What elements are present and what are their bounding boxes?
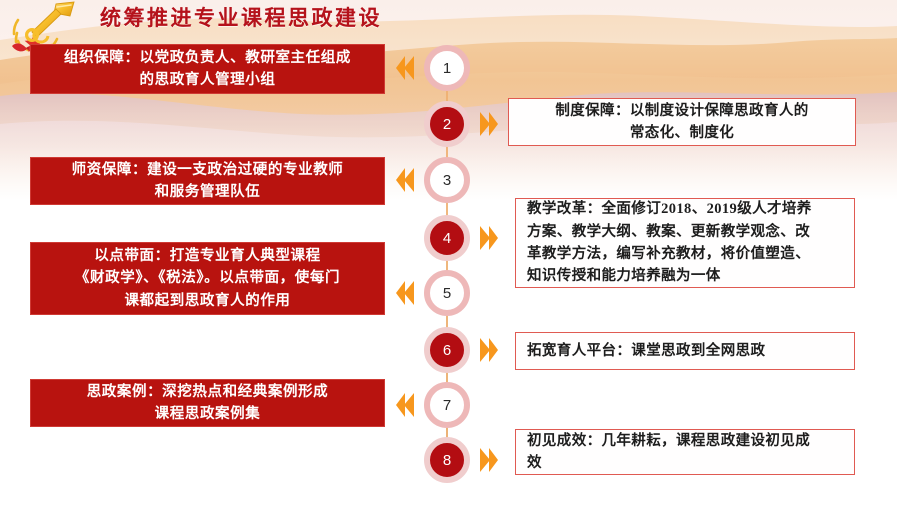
left-callout-text: 组织保障：以党政负责人、教研室主任组成 的思政育人管理小组	[41, 47, 374, 92]
chevron-right-icon	[476, 111, 498, 137]
left-callout-3[interactable]: 师资保障：建设一支政治过硬的专业教师 和服务管理队伍	[30, 157, 385, 205]
node-number: 3	[443, 173, 451, 188]
right-callout-2[interactable]: 制度保障：以制度设计保障思政育人的 常态化、制度化	[508, 98, 856, 146]
left-callout-1[interactable]: 组织保障：以党政负责人、教研室主任组成 的思政育人管理小组	[30, 44, 385, 94]
chevron-right-icon	[476, 225, 498, 251]
left-callout-7[interactable]: 思政案例：深挖热点和经典案例形成 课程思政案例集	[30, 379, 385, 427]
node-number: 1	[443, 61, 451, 76]
timeline-node-2[interactable]: 2	[424, 101, 470, 147]
slide-canvas: 统筹推进专业课程思政建设 12345678 组织保障：以党政负责人、教研室主任组…	[0, 0, 897, 516]
chevron-left-icon	[396, 55, 418, 81]
timeline-node-6[interactable]: 6	[424, 327, 470, 373]
left-callout-5[interactable]: 以点带面：打造专业育人典型课程 《财政学》、《税法》。以点带面，使每门 课都起到…	[30, 242, 385, 315]
node-number: 2	[443, 117, 451, 132]
right-callout-text: 初见成效：几年耕耘，课程思政建设初见成 效	[527, 430, 843, 475]
node-number: 8	[443, 453, 451, 468]
left-callout-text: 思政案例：深挖热点和经典案例形成 课程思政案例集	[41, 381, 374, 426]
right-callout-text: 制度保障：以制度设计保障思政育人的 常态化、制度化	[520, 100, 844, 145]
timeline-node-5[interactable]: 5	[424, 270, 470, 316]
node-number: 5	[443, 286, 451, 301]
chevron-left-icon	[396, 280, 418, 306]
page-title: 统筹推进专业课程思政建设	[100, 2, 382, 32]
right-callout-8[interactable]: 初见成效：几年耕耘，课程思政建设初见成 效	[515, 429, 855, 475]
chevron-right-icon	[476, 337, 498, 363]
timeline-node-7[interactable]: 7	[424, 382, 470, 428]
timeline-node-3[interactable]: 3	[424, 157, 470, 203]
right-callout-text: 拓宽育人平台：课堂思政到全网思政	[527, 340, 843, 362]
chevron-left-icon	[396, 167, 418, 193]
chevron-left-icon	[396, 392, 418, 418]
right-callout-6[interactable]: 拓宽育人平台：课堂思政到全网思政	[515, 332, 855, 370]
left-callout-text: 师资保障：建设一支政治过硬的专业教师 和服务管理队伍	[41, 159, 374, 204]
chevron-right-icon	[476, 447, 498, 473]
node-number: 4	[443, 231, 451, 246]
timeline-node-8[interactable]: 8	[424, 437, 470, 483]
node-number: 6	[443, 343, 451, 358]
node-number: 7	[443, 398, 451, 413]
left-callout-text: 以点带面：打造专业育人典型课程 《财政学》、《税法》。以点带面，使每门 课都起到…	[41, 245, 374, 312]
timeline-node-4[interactable]: 4	[424, 215, 470, 261]
timeline-node-1[interactable]: 1	[424, 45, 470, 91]
right-callout-text: 教学改革：全面修订2018、2019级人才培养 方案、教学大纲、教案、更新教学观…	[527, 198, 843, 288]
right-callout-4[interactable]: 教学改革：全面修订2018、2019级人才培养 方案、教学大纲、教案、更新教学观…	[515, 198, 855, 288]
